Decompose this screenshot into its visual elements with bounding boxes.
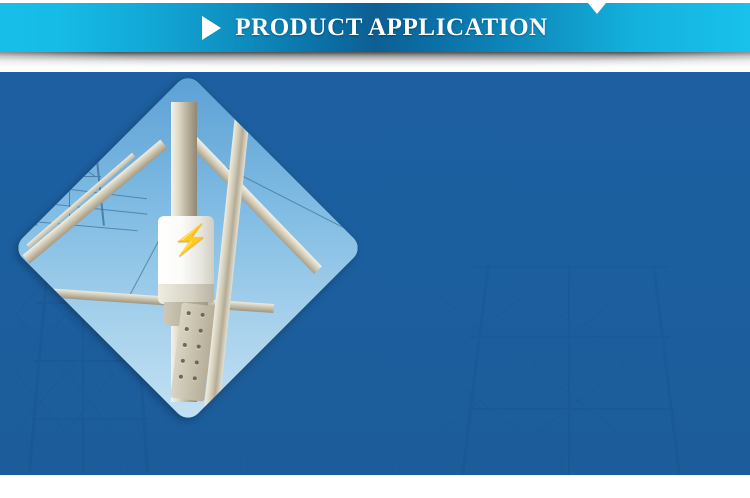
banner-bar: PRODUCT APPLICATION (0, 3, 750, 52)
diamond-photo-frame-left: ⚡ (13, 73, 364, 424)
photo-steel-tower: ⚡ (13, 73, 364, 424)
surge-arrester-cap (158, 284, 214, 304)
photo-stage: ⚡ (0, 72, 750, 475)
surge-arrester-body: ⚡ (158, 216, 214, 288)
tower-gusset (23, 324, 60, 353)
banner-drop-shadow (0, 52, 750, 71)
application-photo-right[interactable]: ⚡ (375, 72, 750, 475)
red-lightning-bolt-icon: ⚡ (170, 226, 211, 256)
bottom-white-strip (0, 475, 750, 498)
application-photo-left[interactable]: ⚡ (0, 72, 375, 475)
page-title: PRODUCT APPLICATION (235, 14, 548, 42)
header-banner: PRODUCT APPLICATION (0, 0, 750, 72)
play-triangle-icon (202, 16, 221, 40)
banner-notch-icon (588, 3, 606, 14)
product-application-page: PRODUCT APPLICATION (0, 0, 750, 498)
